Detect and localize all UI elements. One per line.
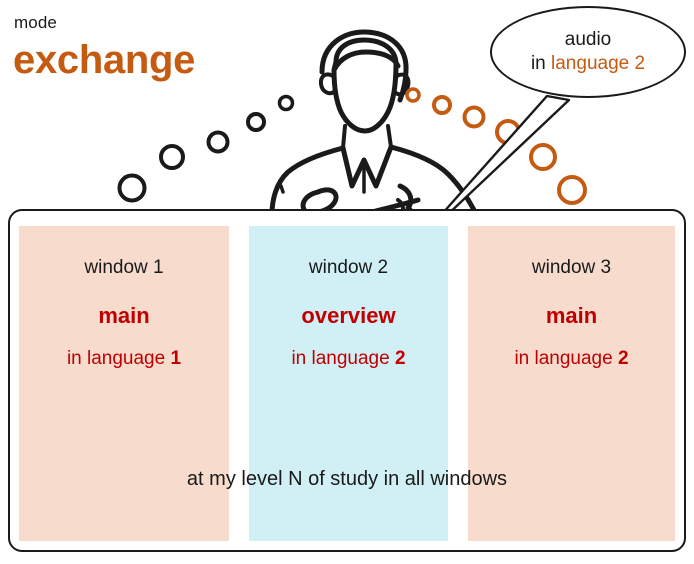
black-bubble-3 bbox=[209, 133, 228, 152]
black-bubble-2 bbox=[161, 146, 183, 168]
orange-bubble-6 bbox=[559, 177, 585, 203]
orange-bubble-4 bbox=[497, 121, 519, 143]
window-panel-1-language: in language 1 bbox=[19, 348, 229, 370]
window-panel-2-title: window 2 bbox=[249, 257, 448, 279]
window-panel-2-mode: overview bbox=[249, 303, 448, 329]
black-bubble-4 bbox=[248, 114, 264, 130]
window-panel-2-language-prefix: in language bbox=[291, 348, 395, 369]
window-panel-1-language-prefix: in language bbox=[67, 348, 171, 369]
diagram-canvas: mode exchange bbox=[0, 0, 694, 564]
bubble-line-audio: audio bbox=[565, 28, 612, 52]
window-panel-3[interactable]: window 3 main in language 2 bbox=[468, 226, 675, 541]
window-panel-2-language-number: 2 bbox=[395, 348, 406, 369]
black-bubbles-decor bbox=[120, 97, 293, 201]
person-figure-icon bbox=[272, 32, 478, 230]
bubble-line-prefix: in bbox=[531, 53, 551, 74]
window-panel-3-mode: main bbox=[468, 303, 675, 329]
orange-bubble-1 bbox=[407, 89, 419, 101]
orange-bubbles-decor bbox=[407, 89, 585, 203]
window-panel-1-title: window 1 bbox=[19, 257, 229, 279]
mode-title: exchange bbox=[13, 40, 195, 80]
audio-speech-bubble: audio in language 2 bbox=[490, 6, 686, 98]
black-bubble-5 bbox=[280, 97, 293, 110]
window-panel-1[interactable]: window 1 main in language 1 bbox=[19, 226, 229, 541]
level-note: at my level N of study in all windows bbox=[8, 468, 686, 491]
orange-bubble-5 bbox=[531, 145, 555, 169]
window-panel-3-title: window 3 bbox=[468, 257, 675, 279]
window-panel-1-language-number: 1 bbox=[170, 348, 181, 369]
mode-label: mode bbox=[14, 13, 57, 33]
window-panel-2-language: in language 2 bbox=[249, 348, 448, 370]
bubble-line-accent: language 2 bbox=[551, 53, 645, 74]
window-panel-3-language-prefix: in language bbox=[514, 348, 618, 369]
window-panel-1-mode: main bbox=[19, 303, 229, 329]
window-panel-3-language-number: 2 bbox=[618, 348, 629, 369]
window-panel-2[interactable]: window 2 overview in language 2 bbox=[249, 226, 448, 541]
orange-bubble-2 bbox=[434, 97, 450, 113]
black-bubble-1 bbox=[120, 176, 145, 201]
orange-bubble-3 bbox=[465, 108, 484, 127]
bubble-line-language: in language 2 bbox=[531, 52, 645, 76]
window-panel-3-language: in language 2 bbox=[468, 348, 675, 370]
